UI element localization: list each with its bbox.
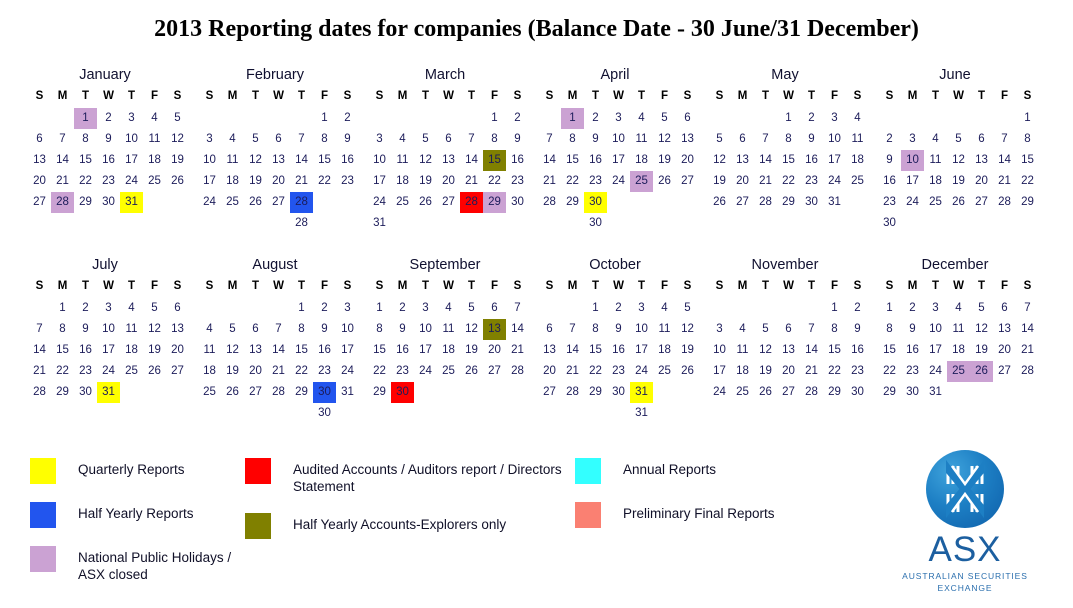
- day-cell-empty: [506, 382, 529, 403]
- day-cell: 22: [823, 361, 846, 382]
- day-cell: 18: [731, 361, 754, 382]
- day-cell: 10: [924, 319, 947, 340]
- week-row: 2728293031: [28, 192, 188, 213]
- weekday-header: F: [483, 88, 506, 104]
- week-row: 14151617181920: [538, 150, 698, 171]
- day-cell: 26: [244, 192, 267, 213]
- day-cell: 22: [290, 361, 313, 382]
- day-cell-empty: [143, 382, 166, 403]
- day-cell: 8: [823, 319, 846, 340]
- extra-badge-row: 30: [198, 403, 358, 424]
- day-cell-empty: [901, 213, 924, 234]
- day-cell: 24: [924, 361, 947, 382]
- day-cell: 14: [993, 150, 1016, 171]
- weekday-header: F: [653, 88, 676, 104]
- day-cell: 17: [823, 150, 846, 171]
- day-cell: 8: [368, 319, 391, 340]
- day-cell: 9: [506, 129, 529, 150]
- day-cell: 15: [1016, 150, 1039, 171]
- day-cell: 8: [290, 319, 313, 340]
- day-cell-empty: [653, 192, 676, 213]
- day-cell: 19: [947, 171, 970, 192]
- week-rows: 1234567891011121314151617181920212223242…: [18, 108, 188, 213]
- legend-item-annual: Annual Reports: [575, 458, 875, 484]
- day-cell-empty: [561, 298, 584, 319]
- week-row: 567891011: [708, 129, 868, 150]
- day-cell: 24: [198, 192, 221, 213]
- week-row: 1234: [708, 108, 868, 129]
- week-row: 3456789: [708, 319, 868, 340]
- day-cell-empty: [166, 192, 189, 213]
- day-cell: 24: [368, 192, 391, 213]
- day-cell: 22: [584, 361, 607, 382]
- day-cell: 20: [244, 361, 267, 382]
- day-cell: 25: [221, 192, 244, 213]
- day-cell: 7: [993, 129, 1016, 150]
- day-cell: 27: [993, 361, 1016, 382]
- day-cell: 3: [924, 298, 947, 319]
- day-cell-empty: [901, 108, 924, 129]
- weekday-header: T: [414, 88, 437, 104]
- day-cell: 17: [607, 150, 630, 171]
- legend-item-audited: Audited Accounts / Auditors report / Dir…: [245, 458, 575, 495]
- day-cell: 20: [538, 361, 561, 382]
- weekday-header: S: [28, 88, 51, 104]
- day-cell: 12: [708, 150, 731, 171]
- day-cell: 29: [823, 382, 846, 403]
- week-row: 123456: [28, 298, 188, 319]
- day-cell-highlight-red: 30: [391, 382, 414, 403]
- legend-swatch-quarterly: [30, 458, 56, 484]
- day-cell: 10: [97, 319, 120, 340]
- day-cell: 3: [336, 298, 359, 319]
- day-cell: 15: [823, 340, 846, 361]
- legend-swatch-audited: [245, 458, 271, 484]
- day-cell: 1: [290, 298, 313, 319]
- week-row: 282930: [538, 192, 698, 213]
- month-june: JuneSMTWTFS12345678910111213141516171819…: [868, 66, 1038, 256]
- weekday-header-row: SMTWTFS: [18, 88, 188, 104]
- day-cell-empty: [924, 213, 947, 234]
- legend-swatch-annual: [575, 458, 601, 484]
- day-cell: 16: [846, 340, 869, 361]
- day-cell-empty: [221, 403, 244, 424]
- day-cell-empty: [391, 108, 414, 129]
- day-cell: 11: [391, 150, 414, 171]
- day-cell: 29: [51, 382, 74, 403]
- month-december: DecemberSMTWTFS1234567891011121314151617…: [868, 256, 1038, 446]
- day-cell: 23: [846, 361, 869, 382]
- day-cell: 2: [506, 108, 529, 129]
- day-cell: 12: [143, 319, 166, 340]
- legend-swatch-holiday: [30, 546, 56, 572]
- day-cell-highlight-yellow: 31: [120, 192, 143, 213]
- day-cell: 15: [290, 340, 313, 361]
- day-cell: 19: [676, 340, 699, 361]
- week-row: 24252627282930: [368, 192, 528, 213]
- day-cell: 24: [120, 171, 143, 192]
- weekday-header: S: [1016, 88, 1039, 104]
- weekday-header: F: [653, 278, 676, 294]
- day-cell-empty: [336, 192, 359, 213]
- day-cell-empty: [970, 382, 993, 403]
- day-cell: 17: [120, 150, 143, 171]
- day-cell: 9: [313, 319, 336, 340]
- day-cell: 19: [244, 171, 267, 192]
- day-cell-highlight-purple: 29: [483, 192, 506, 213]
- day-cell: 5: [166, 108, 189, 129]
- week-row: 28293031: [28, 382, 188, 403]
- day-cell: 2: [97, 108, 120, 129]
- day-cell: 26: [414, 192, 437, 213]
- day-cell-empty: [607, 213, 630, 234]
- page-title: 2013 Reporting dates for companies (Bala…: [0, 0, 1073, 50]
- day-cell-empty: [221, 108, 244, 129]
- day-cell: 13: [676, 129, 699, 150]
- day-cell-empty: [993, 213, 1016, 234]
- day-cell: 17: [708, 361, 731, 382]
- day-cell: 31: [336, 382, 359, 403]
- day-cell-empty: [414, 382, 437, 403]
- day-cell: 7: [506, 298, 529, 319]
- day-cell: 5: [460, 298, 483, 319]
- day-cell-empty: [676, 403, 699, 424]
- day-cell: 27: [483, 361, 506, 382]
- day-cell: 1: [777, 108, 800, 129]
- day-cell: 21: [993, 171, 1016, 192]
- week-row: 31: [368, 213, 528, 234]
- week-row: 2345678: [878, 129, 1038, 150]
- day-cell-empty: [653, 403, 676, 424]
- day-cell-empty: [267, 298, 290, 319]
- asx-wordmark: ASX: [880, 530, 1050, 570]
- day-cell-empty: [267, 403, 290, 424]
- day-cell: 11: [846, 129, 869, 150]
- day-cell: 2: [901, 298, 924, 319]
- day-cell: 23: [391, 361, 414, 382]
- day-cell: 29: [74, 192, 97, 213]
- day-cell: 25: [120, 361, 143, 382]
- day-cell: 16: [74, 340, 97, 361]
- day-cell: 18: [198, 361, 221, 382]
- weekday-header: W: [947, 278, 970, 294]
- day-cell: 4: [731, 319, 754, 340]
- day-cell: 20: [993, 340, 1016, 361]
- day-cell: 10: [336, 319, 359, 340]
- day-cell: 30: [74, 382, 97, 403]
- legend-column-3: Annual ReportsPreliminary Final Reports: [575, 458, 875, 546]
- weekday-header: T: [584, 88, 607, 104]
- weekday-header-row: SMTWTFS: [868, 88, 1038, 104]
- week-row: 12345: [538, 298, 698, 319]
- day-cell: 14: [561, 340, 584, 361]
- day-cell: 6: [244, 319, 267, 340]
- day-cell: 12: [460, 319, 483, 340]
- weekday-header: S: [28, 278, 51, 294]
- day-cell: 2: [800, 108, 823, 129]
- day-cell: 21: [290, 171, 313, 192]
- day-cell: 22: [561, 171, 584, 192]
- day-cell: 11: [143, 129, 166, 150]
- day-cell: 20: [970, 171, 993, 192]
- day-cell: 10: [368, 150, 391, 171]
- day-cell-highlight-salmon: 28: [290, 213, 313, 234]
- weekday-header: S: [166, 88, 189, 104]
- week-row: 19202122232425: [708, 171, 868, 192]
- day-cell: 16: [506, 150, 529, 171]
- day-cell: 15: [878, 340, 901, 361]
- day-cell-highlight-purple: 25: [630, 171, 653, 192]
- day-cell: 7: [290, 129, 313, 150]
- month-november: NovemberSMTWTFS1234567891011121314151617…: [698, 256, 868, 446]
- month-february: FebruarySMTWTFS1234567891011121314151617…: [188, 66, 358, 256]
- day-cell: 12: [653, 129, 676, 150]
- day-cell-empty: [198, 403, 221, 424]
- day-cell: 27: [28, 192, 51, 213]
- week-row: 891011121314: [368, 319, 528, 340]
- weekday-header: S: [368, 278, 391, 294]
- day-cell-empty: [708, 298, 731, 319]
- week-row: 10111213141516: [198, 150, 358, 171]
- day-cell: 12: [166, 129, 189, 150]
- day-cell: 19: [653, 150, 676, 171]
- day-cell: 30: [846, 382, 869, 403]
- day-cell-highlight-olive: 13: [483, 319, 506, 340]
- day-cell: 25: [731, 382, 754, 403]
- month-july: JulySMTWTFS12345678910111213141516171819…: [18, 256, 188, 446]
- day-cell: 16: [97, 150, 120, 171]
- day-cell: 18: [391, 171, 414, 192]
- day-cell: 9: [97, 129, 120, 150]
- day-cell: 21: [267, 361, 290, 382]
- week-row: 23242526272829: [878, 192, 1038, 213]
- day-cell: 15: [51, 340, 74, 361]
- day-cell: 26: [653, 171, 676, 192]
- week-row: 45678910: [198, 319, 358, 340]
- day-cell-empty: [483, 213, 506, 234]
- day-cell: 8: [584, 319, 607, 340]
- day-cell: 24: [336, 361, 359, 382]
- week-row: 1234567: [878, 298, 1038, 319]
- day-cell-empty: [970, 108, 993, 129]
- day-cell: 24: [708, 382, 731, 403]
- day-cell-empty: [244, 213, 267, 234]
- day-cell: 1: [1016, 108, 1039, 129]
- day-cell: 27: [538, 382, 561, 403]
- weekday-header: F: [993, 278, 1016, 294]
- day-cell: 27: [777, 382, 800, 403]
- day-cell: 14: [1016, 319, 1039, 340]
- day-cell: 3: [607, 108, 630, 129]
- day-cell: 10: [708, 340, 731, 361]
- day-cell: 5: [947, 129, 970, 150]
- day-cell: 11: [731, 340, 754, 361]
- day-cell: 4: [653, 298, 676, 319]
- weekday-header: M: [51, 278, 74, 294]
- day-cell: 4: [143, 108, 166, 129]
- day-cell: 11: [221, 150, 244, 171]
- week-row: 12: [708, 298, 868, 319]
- day-cell: 30: [878, 213, 901, 234]
- day-cell: 20: [731, 171, 754, 192]
- day-cell-empty: [267, 213, 290, 234]
- day-cell-empty: [947, 382, 970, 403]
- day-cell: 18: [947, 340, 970, 361]
- day-cell: 11: [924, 150, 947, 171]
- day-cell-empty: [1016, 382, 1039, 403]
- day-cell-empty: [198, 108, 221, 129]
- day-cell: 3: [901, 129, 924, 150]
- day-cell: 25: [653, 361, 676, 382]
- weekday-header: W: [777, 278, 800, 294]
- week-rows: 1234567891011121314151617181920212223242…: [18, 298, 188, 403]
- day-cell-empty: [221, 298, 244, 319]
- week-row: 293031: [878, 382, 1038, 403]
- day-cell: 9: [391, 319, 414, 340]
- day-cell: 27: [437, 192, 460, 213]
- day-cell-empty: [391, 213, 414, 234]
- legend-column-1: Quarterly ReportsHalf Yearly ReportsNati…: [30, 458, 240, 601]
- day-cell-empty: [313, 192, 336, 213]
- day-cell-empty: [538, 108, 561, 129]
- day-cell: 20: [28, 171, 51, 192]
- day-cell: 4: [120, 298, 143, 319]
- day-cell: 4: [437, 298, 460, 319]
- day-cell: 4: [630, 108, 653, 129]
- day-cell-empty: [584, 403, 607, 424]
- day-cell: 26: [166, 171, 189, 192]
- day-cell: 30: [800, 192, 823, 213]
- day-cell: 26: [754, 382, 777, 403]
- day-cell-empty: [676, 192, 699, 213]
- day-cell: 19: [143, 340, 166, 361]
- day-cell: 15: [313, 150, 336, 171]
- day-cell: 28: [506, 361, 529, 382]
- day-cell: 1: [368, 298, 391, 319]
- day-cell-empty: [561, 403, 584, 424]
- day-cell: 17: [336, 340, 359, 361]
- day-cell: 21: [506, 340, 529, 361]
- weekday-header: M: [731, 278, 754, 294]
- month-name: September: [358, 256, 528, 274]
- day-cell: 28: [267, 382, 290, 403]
- day-cell: 28: [754, 192, 777, 213]
- day-cell: 31: [823, 192, 846, 213]
- weekday-header: T: [630, 278, 653, 294]
- day-cell: 5: [708, 129, 731, 150]
- week-row: 12131415161718: [708, 150, 868, 171]
- day-cell-empty: [290, 108, 313, 129]
- day-cell: 26: [143, 361, 166, 382]
- day-cell: 19: [166, 150, 189, 171]
- day-cell: 15: [74, 150, 97, 171]
- day-cell: 20: [267, 171, 290, 192]
- day-cell: 10: [607, 129, 630, 150]
- day-cell: 21: [28, 361, 51, 382]
- legend-swatch-explorers: [245, 513, 271, 539]
- day-cell-highlight-purple: 10: [901, 150, 924, 171]
- day-cell: 5: [143, 298, 166, 319]
- week-rows: 1234567891011121314151617181920212223242…: [188, 108, 358, 234]
- day-cell: 31: [924, 382, 947, 403]
- week-row: 20212223242526: [538, 361, 698, 382]
- weekday-header: T: [414, 278, 437, 294]
- week-row: 123: [198, 298, 358, 319]
- weekday-header: T: [460, 88, 483, 104]
- day-cell: 11: [120, 319, 143, 340]
- day-cell: 3: [708, 319, 731, 340]
- day-cell: 6: [267, 129, 290, 150]
- weekday-header-row: SMTWTFS: [358, 278, 528, 294]
- legend-label: Preliminary Final Reports: [623, 502, 775, 522]
- week-row: 2425262728: [198, 192, 358, 213]
- day-cell: 8: [483, 129, 506, 150]
- weekday-header: W: [437, 278, 460, 294]
- day-cell-empty: [336, 213, 359, 234]
- day-cell-highlight-purple: 26: [970, 361, 993, 382]
- day-cell: 3: [368, 129, 391, 150]
- week-row: 6789101112: [538, 319, 698, 340]
- day-cell-highlight-purple: 1: [74, 108, 97, 129]
- day-cell: 3: [97, 298, 120, 319]
- day-cell-empty: [483, 382, 506, 403]
- day-cell: 11: [198, 340, 221, 361]
- day-cell: 14: [267, 340, 290, 361]
- day-cell: 16: [584, 150, 607, 171]
- week-rows: 1234567891011121314151617181920212223242…: [528, 298, 698, 424]
- day-cell-empty: [754, 108, 777, 129]
- extra-badge-row: 30: [538, 213, 698, 234]
- weekday-header: S: [846, 88, 869, 104]
- day-cell-empty: [437, 382, 460, 403]
- day-cell: 29: [1016, 192, 1039, 213]
- day-cell: 14: [51, 150, 74, 171]
- day-cell-empty: [244, 108, 267, 129]
- day-cell: 31: [368, 213, 391, 234]
- day-cell: 16: [800, 150, 823, 171]
- day-cell-empty: [947, 108, 970, 129]
- day-cell: 13: [28, 150, 51, 171]
- day-cell-empty: [166, 382, 189, 403]
- weekday-header: F: [143, 278, 166, 294]
- day-cell: 14: [28, 340, 51, 361]
- week-rows: 1234567891011121314151617181920212223242…: [358, 298, 528, 403]
- day-cell: 25: [198, 382, 221, 403]
- day-cell-highlight-purple: 28: [51, 192, 74, 213]
- day-cell: 8: [1016, 129, 1039, 150]
- day-cell: 23: [74, 361, 97, 382]
- day-cell: 21: [1016, 340, 1039, 361]
- week-row: 10111213141516: [368, 150, 528, 171]
- day-cell-empty: [607, 403, 630, 424]
- day-cell-empty: [993, 108, 1016, 129]
- week-row: 21222324252627: [28, 361, 188, 382]
- legend-label: National Public Holidays / ASX closed: [78, 546, 240, 583]
- week-rows: 1234567891011121314151617181920212223242…: [868, 108, 1038, 234]
- day-cell: 13: [970, 150, 993, 171]
- day-cell: 8: [777, 129, 800, 150]
- day-cell-empty: [28, 108, 51, 129]
- week-row: 18192021222324: [198, 361, 358, 382]
- month-name: February: [188, 66, 358, 84]
- day-cell-empty: [28, 298, 51, 319]
- asx-tagline: AUSTRALIAN SECURITIES EXCHANGE: [880, 570, 1050, 594]
- day-cell: 14: [506, 319, 529, 340]
- weekday-header: S: [506, 278, 529, 294]
- day-cell: 29: [878, 382, 901, 403]
- day-cell: 3: [630, 298, 653, 319]
- day-cell: 15: [368, 340, 391, 361]
